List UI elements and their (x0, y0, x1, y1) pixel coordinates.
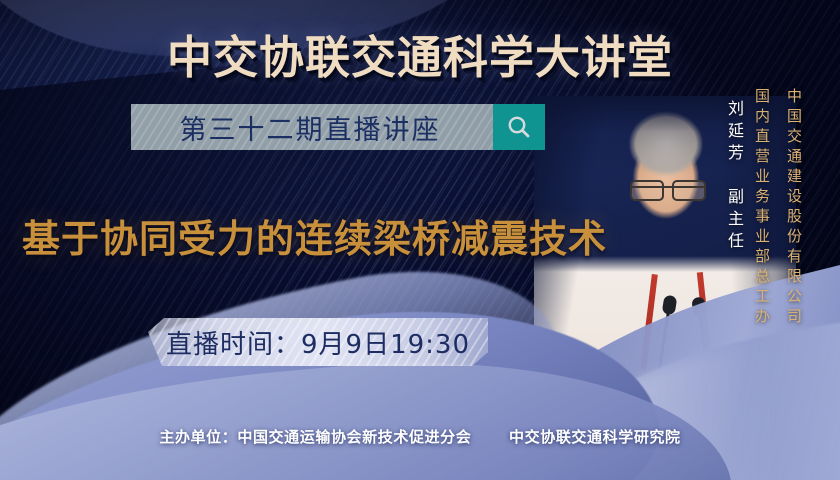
subtitle-text: 第三十二期直播讲座 (131, 108, 493, 147)
footer: 主办单位：中国交通运输协会新技术促进分会 中交协联交通科学研究院 (0, 426, 840, 447)
footer-institute: 中交协联交通科学研究院 (509, 426, 681, 447)
search-button[interactable] (493, 104, 545, 150)
speaker-department: 国内直营业务事业部总工办 (752, 88, 773, 328)
subtitle-bar: 第三十二期直播讲座 (131, 104, 545, 150)
search-icon (506, 114, 532, 140)
broadcast-time-text: 直播时间：9月9日19:30 (166, 324, 470, 361)
broadcast-time-banner: 直播时间：9月9日19:30 (148, 318, 488, 366)
page-title: 中交协联交通科学大讲堂 (0, 21, 840, 86)
speaker-name: 刘延芳 副主任 (722, 100, 746, 254)
footer-organizer: 主办单位：中国交通运输协会新技术促进分会 (159, 426, 471, 447)
live-stream-poster: 中交协联交通科学大讲堂 第三十二期直播讲座 基于协同受力的连续梁桥减震技术 直播… (0, 0, 840, 480)
lecture-title: 基于协同受力的连续梁桥减震技术 (22, 208, 607, 263)
speaker-company: 中国交通建设股份有限公司 (784, 88, 805, 328)
